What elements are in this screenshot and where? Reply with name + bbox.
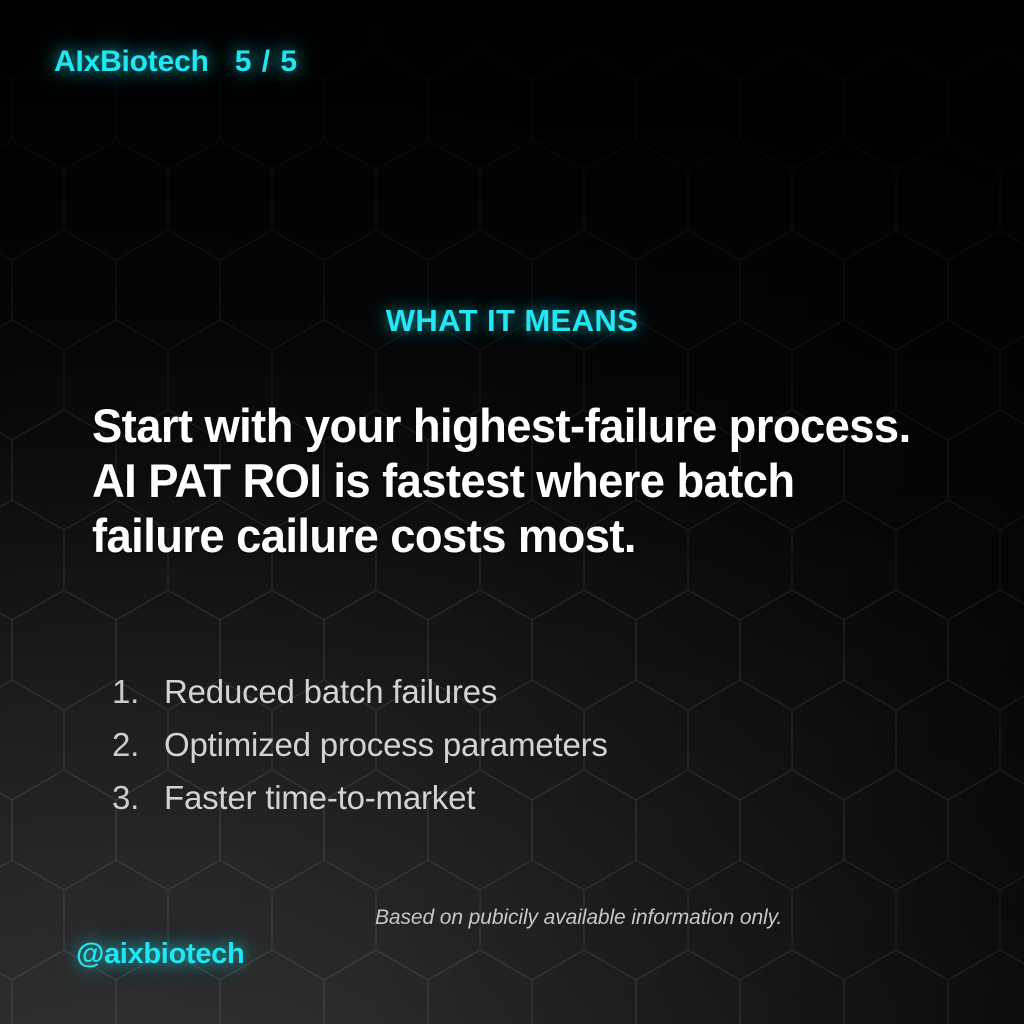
disclaimer-text: Based on pubicily available information … [375,906,782,930]
headline-line-2: AI PAT ROI is fastest where batch [92,453,961,508]
list-item-label: Faster time-to-market [164,771,475,824]
list-item: 3. Faster time-to-market [112,771,608,824]
list-item: 1. Reduced batch failures [112,665,608,718]
page-title: Start with your highest-failure process.… [92,398,961,563]
list-item-label: Optimized process parameters [164,718,608,771]
headline-line-1: Start with your highest-failure process. [92,398,961,453]
section-eyebrow: WHAT IT MEANS [0,303,1024,339]
list-item-label: Reduced batch failures [164,665,497,718]
list-item: 2. Optimized process parameters [112,718,608,771]
slide-content: AIxBiotech 5 / 5 WHAT IT MEANS Start wit… [0,0,1024,1024]
list-item-number: 3. [112,771,164,824]
slide-canvas: AIxBiotech 5 / 5 WHAT IT MEANS Start wit… [0,0,1024,1024]
headline-line-3: failure cailure costs most. [92,508,961,563]
benefits-list: 1. Reduced batch failures 2. Optimized p… [112,665,608,824]
social-handle: @aixbiotech [76,938,244,971]
list-item-number: 2. [112,718,164,771]
slide-counter: 5 / 5 [235,45,298,79]
list-item-number: 1. [112,665,164,718]
brand-header: AIxBiotech 5 / 5 [54,45,298,79]
brand-name: AIxBiotech [54,45,209,79]
